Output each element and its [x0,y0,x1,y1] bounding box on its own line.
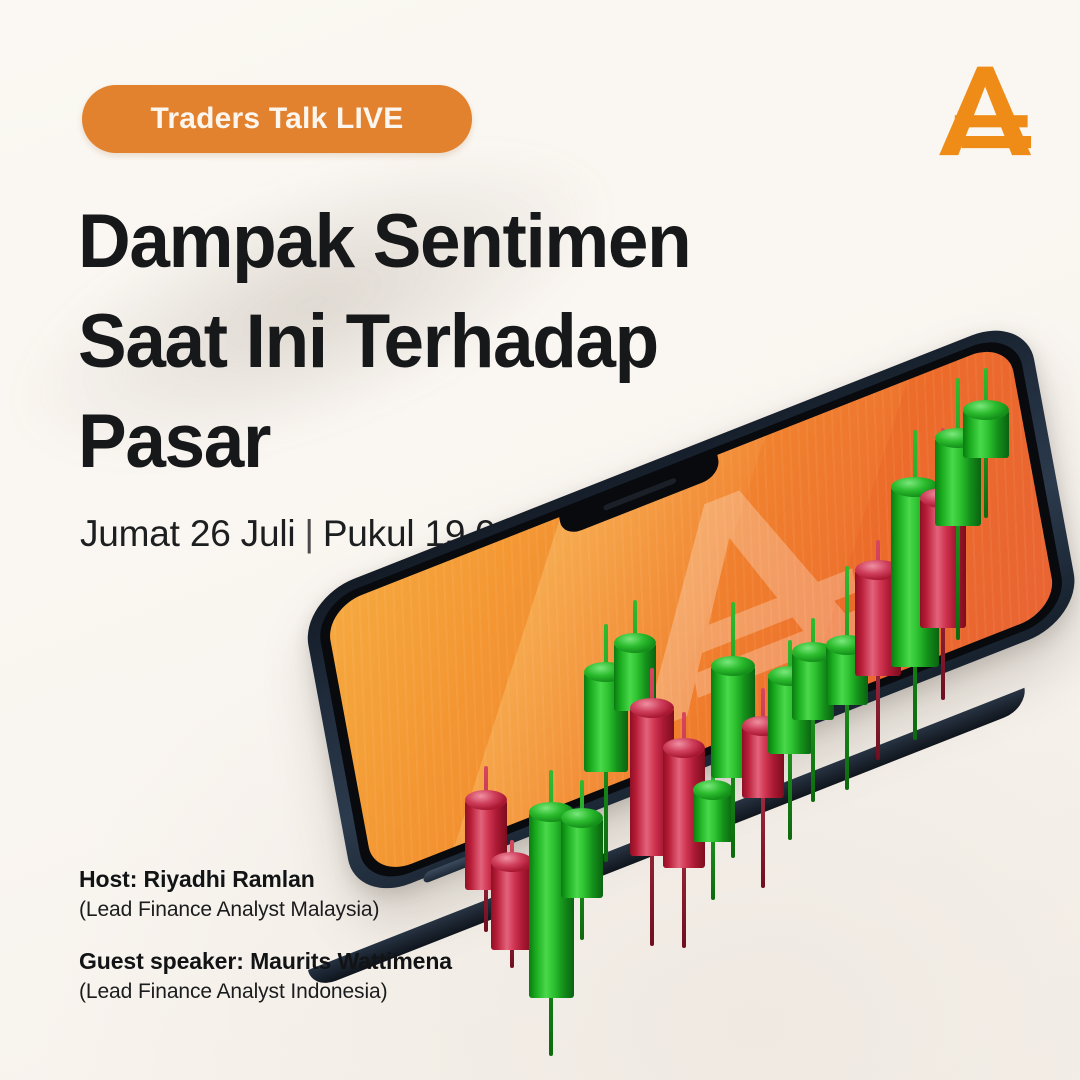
title-line-2: Saat Ini Terhadap [78,292,769,392]
schedule-date: Jumat 26 Juli [80,513,295,554]
guest-role: (Lead Finance Analyst Indonesia) [79,980,452,1004]
poster-canvas: Traders Talk LIVE Dampak Sentimen Saat I… [0,0,1080,1080]
speakers-block: Host: Riyadhi Ramlan (Lead Finance Analy… [79,866,452,1030]
live-badge-label: Traders Talk LIVE [151,102,404,136]
live-badge[interactable]: Traders Talk LIVE [82,85,472,153]
brand-a-logo-icon [934,58,1038,162]
host-role: (Lead Finance Analyst Malaysia) [79,898,452,922]
schedule-separator: | [295,513,322,554]
title-line-1: Dampak Sentimen [78,192,769,292]
guest-block: Guest speaker: Maurits Wattimena (Lead F… [79,948,452,1004]
guest-name: Guest speaker: Maurits Wattimena [79,948,452,975]
host-block: Host: Riyadhi Ramlan (Lead Finance Analy… [79,866,452,922]
host-name: Host: Riyadhi Ramlan [79,866,452,893]
page-title: Dampak Sentimen Saat Ini Terhadap Pasar [78,192,769,492]
